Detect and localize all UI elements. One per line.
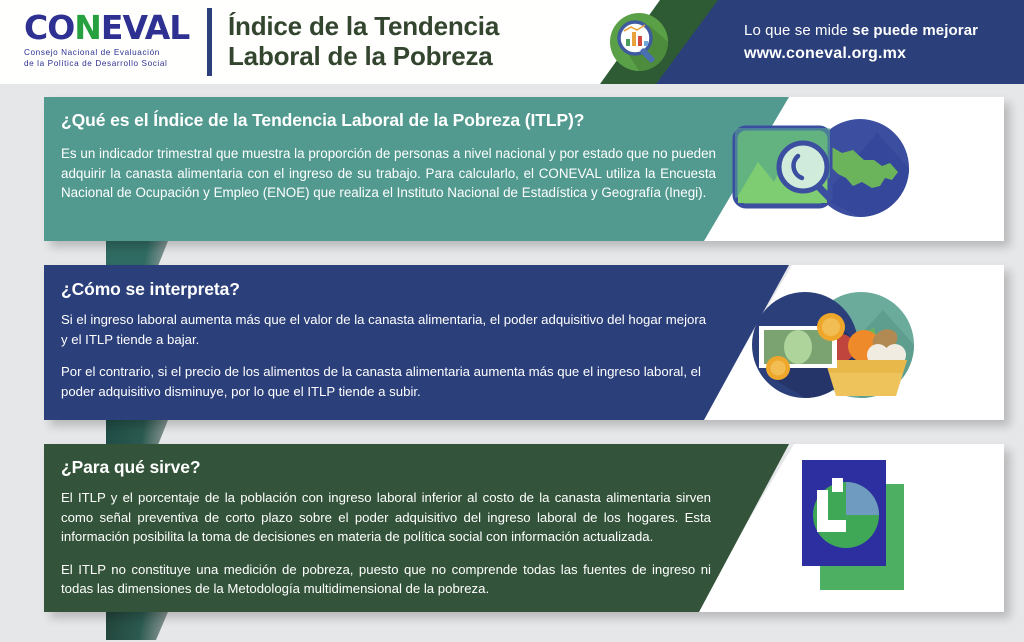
website-url[interactable]: www.coneval.org.mx: [744, 42, 1014, 66]
section-text-2: Si el ingreso laboral aumenta más que el…: [61, 310, 709, 401]
logo-subtitle-line-1: Consejo Nacional de Evaluación: [24, 48, 202, 59]
tagline-plain: Lo que se mide: [744, 22, 852, 39]
tagline: Lo que se mide se puede mejorar: [744, 20, 1014, 42]
logo-subtitle-line-2: de la Política de Desarrollo Social: [24, 59, 202, 70]
section-title-3: ¿Para qué sirve?: [61, 457, 200, 478]
section-text-3: El ITLP y el porcentaje de la población …: [61, 488, 711, 599]
section-paragraph: El ITLP no constituye una medición de po…: [61, 560, 711, 599]
section-paragraph: Por el contrario, si el precio de los al…: [61, 362, 709, 401]
tagline-bold: se puede mejorar: [852, 22, 978, 39]
chart-magnifier-mexico-map-icon: [722, 108, 922, 228]
logo-text-n: N: [74, 8, 101, 47]
coneval-logo[interactable]: CONEVAL Consejo Nacional de Evaluación d…: [24, 11, 202, 73]
page-header: CONEVAL Consejo Nacional de Evaluación d…: [0, 0, 1024, 84]
section-paragraph: Es un indicador trimestral que muestra l…: [61, 144, 716, 203]
chart-magnifier-icon: [609, 12, 669, 72]
header-tagline-block: Lo que se mide se puede mejorar www.cone…: [744, 20, 1014, 66]
page-title-line-2: Laboral de la Pobreza: [228, 41, 558, 71]
coneval-wordmark: CONEVAL: [24, 11, 202, 45]
panel-fold-tab-3: [106, 612, 168, 642]
section-text-1: Es un indicador trimestral que muestra l…: [61, 144, 716, 203]
section-paragraph: Si el ingreso laboral aumenta más que el…: [61, 310, 709, 349]
money-food-basket-icon: [733, 282, 933, 408]
logo-text-post: EVAL: [101, 8, 189, 47]
logo-text-pre: CO: [24, 8, 74, 47]
logo-subtitle: Consejo Nacional de Evaluación de la Pol…: [24, 48, 202, 69]
page-title-line-1: Índice de la Tendencia: [228, 11, 558, 41]
page-title: Índice de la Tendencia Laboral de la Pob…: [228, 11, 558, 71]
section-paragraph: El ITLP y el porcentaje de la población …: [61, 488, 711, 547]
section-title-2: ¿Cómo se interpreta?: [61, 279, 240, 300]
header-vertical-divider: [207, 8, 212, 76]
section-title-1: ¿Qué es el Índice de la Tendencia Labora…: [61, 110, 584, 131]
document-pie-chart-icon: [788, 452, 938, 600]
